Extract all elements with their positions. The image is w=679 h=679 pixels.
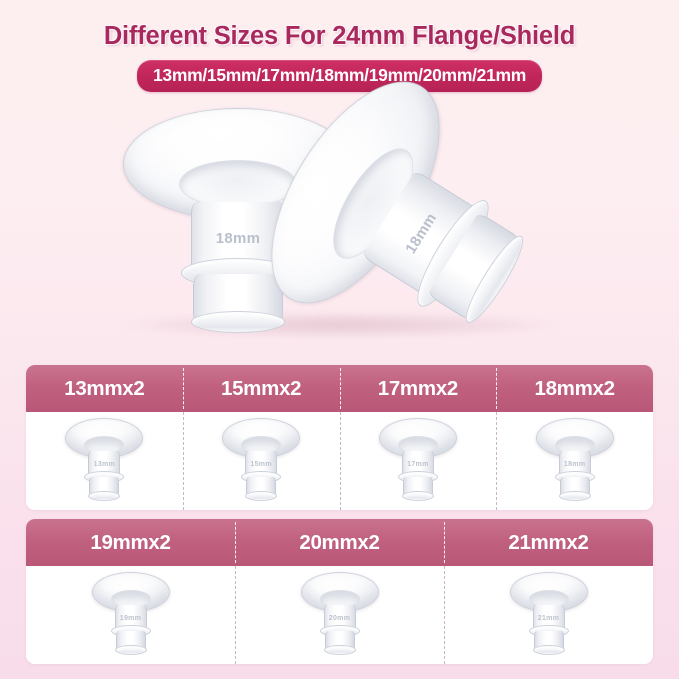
size-grid-row-body: 13mm 15mm [26,412,653,510]
size-grid-row-header: 13mmx2 15mmx2 17mmx2 18mmx2 [26,365,653,412]
flange-ring-lower [191,311,285,333]
mini-flange: 21mm [510,572,588,660]
sizes-pill-badge: 13mm/15mm/17mm/18mm/19mm/20mm/21mm [137,60,542,92]
mini-flange: 19mm [92,572,170,660]
flange-ring-lower [115,645,147,655]
size-cell-header: 17mmx2 [340,365,497,412]
size-cell-image: 21mm [444,566,653,664]
sizes-pill-wrapper: 13mm/15mm/17mm/18mm/19mm/20mm/21mm [0,60,679,92]
mini-flange: 13mm [65,418,143,506]
size-cell-header: 13mmx2 [26,365,183,412]
size-cell-header: 18mmx2 [496,365,653,412]
size-cell-image: 13mm [26,412,183,510]
size-grid-row: 19mmx2 20mmx2 21mmx2 19mm [26,519,653,664]
flange-ring-lower [533,645,565,655]
mini-flange: 17mm [379,418,457,506]
size-grid: 13mmx2 15mmx2 17mmx2 18mmx2 13mm [26,365,653,664]
size-grid-row-header: 19mmx2 20mmx2 21mmx2 [26,519,653,566]
flange-size-label: 18mm [536,461,614,468]
size-cell-image: 17mm [340,412,497,510]
hero-flange-tilted: 18mm [238,54,570,391]
size-cell-header: 19mmx2 [26,519,235,566]
flange-size-label: 17mm [379,461,457,468]
flange-size-label: 15mm [222,461,300,468]
mini-flange: 18mm [536,418,614,506]
size-grid-row: 13mmx2 15mmx2 17mmx2 18mmx2 13mm [26,365,653,510]
flange-size-label: 13mm [65,461,143,468]
flange-ring-lower [245,491,277,501]
mini-flange: 15mm [222,418,300,506]
flange-size-label: 19mm [92,615,170,622]
size-cell-header: 20mmx2 [235,519,444,566]
flange-ring-lower [88,491,120,501]
flange-ring-lower [402,491,434,501]
flange-ring-lower [559,491,591,501]
size-cell-header: 21mmx2 [444,519,653,566]
size-grid-row-body: 19mm 20mm [26,566,653,664]
flange-size-label: 20mm [301,615,379,622]
mini-flange: 20mm [301,572,379,660]
flange-ring-lower [324,645,356,655]
size-cell-header: 15mmx2 [183,365,340,412]
size-cell-image: 19mm [26,566,235,664]
size-cell-image: 15mm [183,412,340,510]
flange-size-label: 21mm [510,615,588,622]
size-cell-image: 20mm [235,566,444,664]
size-cell-image: 18mm [496,412,653,510]
hero-product-images: 18mm 18mm [0,96,679,346]
header: Different Sizes For 24mm Flange/Shield 1… [0,0,679,92]
page-title: Different Sizes For 24mm Flange/Shield [0,22,679,51]
